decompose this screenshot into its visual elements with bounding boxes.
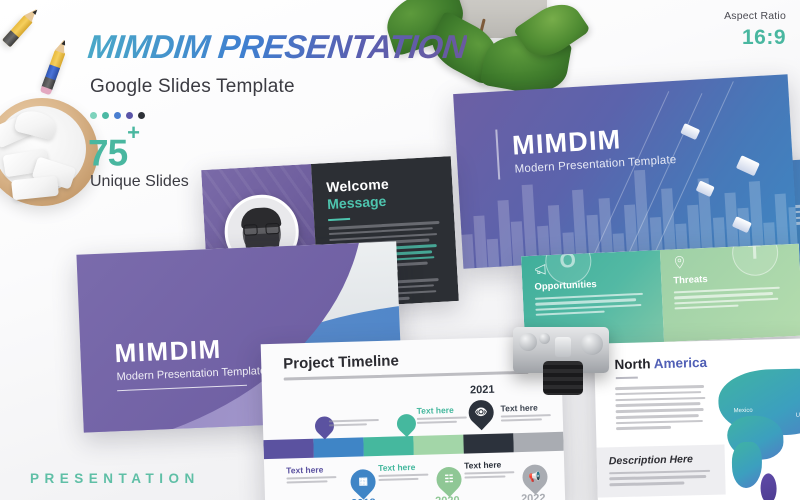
eye-icon: 👁 (475, 407, 488, 418)
hero-slide-title: MIMDIM (511, 124, 622, 161)
megaphone-icon: 📢 (529, 471, 542, 482)
timeline-year: 2020 (435, 495, 460, 500)
aspect-ratio-label: Aspect Ratio (724, 10, 786, 22)
map-label: Mexico (734, 408, 753, 414)
poster-stage: MIMDIM PRESENTATION Google Slides Templa… (0, 0, 800, 500)
timeline-chevron (263, 439, 314, 459)
slide-north-america[interactable]: North America Mexico United S Descriptio… (594, 338, 800, 500)
timeline-chevron (313, 437, 364, 457)
timeline-drop-icon[interactable]: 📢 (517, 459, 552, 494)
color-dot (114, 112, 121, 119)
slide-count-label: Unique Slides (90, 173, 189, 191)
timeline-chevrons (263, 432, 563, 459)
color-dots (90, 112, 145, 119)
timeline-text-label: Text here (464, 460, 501, 471)
color-dot (126, 112, 133, 119)
color-dot (138, 112, 145, 119)
location-pin-icon (672, 255, 687, 270)
color-dot (90, 112, 97, 119)
timeline-chevron (513, 432, 564, 452)
camera-prop (513, 327, 609, 373)
page-title: MIMDIM PRESENTATION (86, 28, 468, 66)
timeline-drop-icon[interactable]: ☷ (431, 462, 466, 497)
presentation-icon: ▦ (358, 476, 368, 487)
timeline-text-label: Text here (500, 403, 537, 414)
glasses-icon (243, 223, 280, 236)
timeline-chevron (363, 436, 414, 456)
timeline-chevron (413, 435, 464, 455)
timeline-title: Project Timeline (283, 352, 399, 372)
swot-opportunities-label: Opportunities (534, 277, 649, 293)
pencil-yellow-prop (2, 15, 33, 48)
color-dot (102, 112, 109, 119)
na-description-box: Description Here (597, 444, 726, 497)
timeline-drop-icon[interactable]: ▦ (345, 464, 380, 499)
swot-threats-panel: Threats T (660, 244, 800, 342)
timeline-text-label: Text here (416, 405, 453, 416)
timeline-text-label: Text here (378, 462, 415, 473)
swot-threats-label: Threats (673, 270, 788, 286)
timeline-year: 2021 (470, 384, 495, 397)
timeline-text-label: Text here (286, 465, 323, 476)
slide-count: 75+ (88, 132, 139, 174)
na-description-title: Description Here (609, 452, 713, 467)
map-label: United S (796, 412, 800, 419)
hierarchy-icon: ☷ (444, 474, 453, 485)
mimdim-slide-title: MIMDIM (114, 334, 222, 369)
footer-label: PRESENTATION (30, 471, 200, 486)
timeline-year: 2022 (521, 492, 546, 500)
page-subtitle: Google Slides Template (90, 76, 295, 98)
pencil-blue-prop (41, 49, 65, 90)
aspect-ratio-value: 16:9 (742, 26, 786, 50)
timeline-chevron (463, 433, 514, 453)
slide-hero[interactable]: MIMDIM Modern Presentation Template (453, 74, 798, 269)
